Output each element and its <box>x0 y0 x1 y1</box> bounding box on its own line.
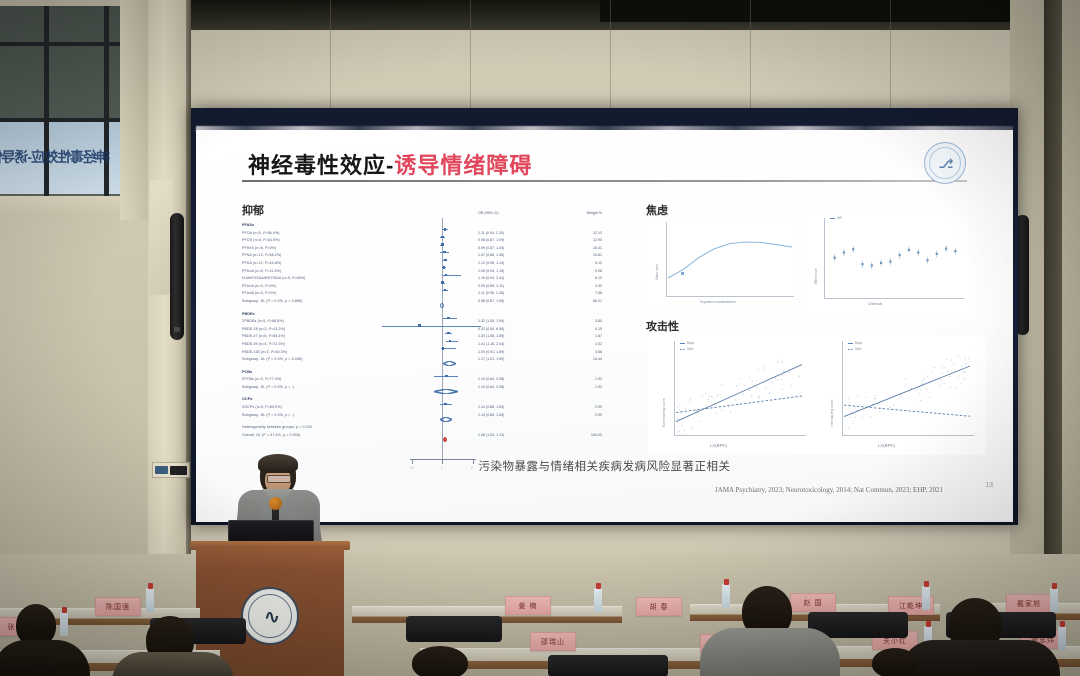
forest-point-estimate <box>447 332 450 335</box>
scatter-point <box>679 431 680 432</box>
forest-or-value: 0.99 (0.87, 1.04) <box>478 245 504 253</box>
window-mullion <box>44 6 49 214</box>
forest-row-label: PFUnA (n=3, I²=0%) <box>242 283 407 291</box>
section-label-aggression: 攻击性 <box>646 318 679 334</box>
scatter-point <box>702 396 703 397</box>
wall-seam <box>750 0 751 110</box>
scatter-point <box>961 383 962 384</box>
scatter-point <box>758 369 759 370</box>
scatter-point <box>758 395 759 396</box>
scatter-point <box>777 379 778 380</box>
forest-summary-diamond <box>440 409 452 414</box>
presenter-hair <box>258 454 298 473</box>
forest-weight-value: 2.99 <box>595 412 602 420</box>
forest-row-stat: 1.11 (0.96, 1.28)7.56 <box>478 290 602 298</box>
scatter-point <box>934 367 935 368</box>
forest-weight-value: 2.99 <box>595 404 602 412</box>
forest-row-stat <box>478 424 602 432</box>
scatter-point <box>751 396 752 397</box>
scatter-point <box>866 396 867 397</box>
scatter-point <box>735 399 736 400</box>
scatter-point <box>941 364 942 365</box>
forest-point-estimate <box>443 266 446 269</box>
scatter-point <box>739 378 740 379</box>
forest-weight-value: 12.90 <box>593 237 602 245</box>
scatter-point <box>905 378 906 379</box>
slide-title-accent: 诱导情绪障碍 <box>394 153 532 178</box>
water-bottle <box>922 586 930 610</box>
scatter-point <box>736 385 737 386</box>
chart-anxiety-line: Odds ratio Exposure concentration <box>648 218 798 310</box>
forest-or-value: 1.12 (0.95, 1.14) <box>478 260 504 268</box>
scatter-point <box>929 397 930 398</box>
scatter-point <box>946 359 947 360</box>
scatter-point <box>950 387 951 388</box>
forest-or-value: 1.07 (0.88, 1.36) <box>478 252 504 260</box>
audience-shoulders <box>700 628 840 676</box>
nameplate: 胡 春 <box>636 597 682 616</box>
forest-row-label: PFDA (n=12, I²=44.8%) <box>242 260 407 268</box>
forest-weight-value: 1.02 <box>595 341 602 349</box>
forest-weight-value: 89.21 <box>593 298 602 306</box>
water-bottle <box>1050 588 1058 612</box>
forest-weight-value: 3.80 <box>595 318 602 326</box>
forest-group-label: PFASs <box>242 222 407 230</box>
forest-col-weight: Weight % <box>587 211 602 215</box>
seal-monogram: ⎇ <box>939 156 952 172</box>
scatter-point <box>965 358 966 359</box>
scatter-point <box>771 382 772 383</box>
scatter-point <box>870 416 871 417</box>
scatter-point <box>778 359 779 360</box>
scatter-point <box>716 395 717 396</box>
microphone-head <box>269 497 282 510</box>
forest-row-label: PFHxS (n=8, I²=0%) <box>242 245 407 253</box>
forest-weight-value: 10.61 <box>593 252 602 260</box>
forest-weight-value: 1.92 <box>595 376 602 384</box>
forest-or-value: 1.16 (0.94, 2.41) <box>478 275 504 283</box>
scatter-point <box>769 393 770 394</box>
scatter-point <box>964 372 965 373</box>
aggression-right-svg <box>816 335 986 455</box>
regression-line-girls <box>676 396 802 413</box>
forest-weight-value: 100.00 <box>591 432 602 440</box>
window-reflection-text: 神经毒性效应-诱导情绪障碍 <box>0 147 110 167</box>
nameplate: 赵 国 <box>790 593 836 612</box>
forest-row-label: PFNA (n=13, I²=58.2%) <box>242 252 407 260</box>
forest-point-estimate <box>444 228 447 231</box>
forest-or-value: 1.14 (0.85, 1.53) <box>478 412 504 420</box>
scatter-point <box>705 393 706 394</box>
scatter-point <box>911 388 912 389</box>
scatter-point <box>963 372 964 373</box>
forest-confidence-interval <box>382 326 482 327</box>
forest-weight-value: 4.30 <box>595 283 602 291</box>
forest-row-stat <box>478 311 602 319</box>
scatter-point <box>721 410 722 411</box>
scatter-point <box>684 429 685 430</box>
forest-weight-value: 14.44 <box>593 356 602 364</box>
nameplate: 戴家旭 <box>1006 594 1052 613</box>
forest-or-value: 0.32 (0.00, 6.50) <box>478 326 504 334</box>
scatter-point <box>680 434 681 435</box>
control-panel-display <box>155 466 168 474</box>
forest-or-value: 1.19 (0.64, 2.08) <box>478 376 504 384</box>
scatter-point <box>700 421 701 422</box>
forest-point-estimate <box>444 259 447 262</box>
audience-shoulders <box>900 640 1060 676</box>
scatter-point <box>964 378 965 379</box>
wall-seam <box>890 0 891 108</box>
scatter-point <box>783 370 784 371</box>
scatter-point <box>679 404 680 405</box>
window-mullion <box>0 42 120 46</box>
scatter-point <box>790 385 791 386</box>
forest-or-value: 1.19 (0.64, 2.08) <box>478 384 504 392</box>
forest-row-label: PBDE-99 (n=4, I²=72.3%) <box>242 341 407 349</box>
forest-row-label: Subgroup, DL (I² = 0.0%, p = .) <box>242 384 407 392</box>
forest-point-estimate <box>449 340 452 343</box>
water-bottle <box>594 588 602 612</box>
scatter-point <box>922 380 923 381</box>
scatter-point <box>849 417 850 418</box>
forest-row-stat: 1.00 (0.91, 1.89)3.86 <box>478 349 602 357</box>
aggression-left-svg <box>648 335 818 455</box>
forest-row-stat: 1.08 (1.02, 1.13)100.00 <box>478 432 602 440</box>
scatter-point <box>705 405 706 406</box>
forest-row-stat <box>478 222 602 230</box>
scatter-point <box>782 361 783 362</box>
scatter-point <box>696 410 697 411</box>
scatter-point <box>690 398 691 399</box>
scatter-point <box>932 371 933 372</box>
scatter-point <box>758 397 759 398</box>
right-column-dark <box>1044 0 1062 600</box>
forest-row-stat <box>478 396 602 404</box>
scatter-point <box>957 378 958 379</box>
scatter-point <box>677 406 678 407</box>
forest-row-label: ΣPCBs (n=3, I²=77.2%) <box>242 376 407 384</box>
scatter-point <box>763 366 764 367</box>
forest-point-estimate <box>447 317 450 320</box>
forest-weight-value: 6.10 <box>595 275 602 283</box>
forest-row-stat: 1.17 (1.01, 1.90)14.44 <box>478 356 602 364</box>
scatter-point <box>893 405 894 406</box>
scatter-point <box>756 387 757 388</box>
forest-row-stat: 1.07 (0.88, 1.36)10.61 <box>478 252 602 260</box>
forest-overall-diamond <box>443 429 447 434</box>
forest-row-label: ΣPBDEs (n=5, I²=88.8%) <box>242 318 407 326</box>
chart-aggression-externalizing: Externalizing score Ln(BPA) Boys Girls <box>648 335 818 455</box>
scatter-point <box>717 394 718 395</box>
forest-row-labels: PFASsPFOA (n=5, I²=66.4%)PFOS (n=8, I²=6… <box>242 222 407 439</box>
scatter-point <box>926 388 927 389</box>
slide-title-primary: 神经毒性效应- <box>248 153 394 178</box>
forest-row-label: Subgroup, DL (I² = 0.0%, p = .) <box>242 412 407 420</box>
wall-seam <box>470 0 471 116</box>
forest-or-value: 1.14 (0.85, 1.53) <box>478 404 504 412</box>
forest-row-label: PFOS (n=8, I²=63.5%) <box>242 237 407 245</box>
scatter-point <box>744 385 745 386</box>
ceiling-band-right <box>600 0 1080 22</box>
forest-null-line <box>442 218 443 462</box>
forest-weight-value: 3.86 <box>595 349 602 357</box>
regression-line-girls <box>844 405 970 416</box>
forest-row-stat: 0.99 (0.89, 1.11)4.30 <box>478 283 602 291</box>
water-bottle <box>146 588 154 612</box>
scatter-point <box>916 390 917 391</box>
forest-summary-diamond <box>440 295 444 300</box>
forest-row-label: PBDE-47 (n=6, I²=65.4%) <box>242 333 407 341</box>
scatter-point <box>764 369 765 370</box>
forest-weight-value: 12.13 <box>593 230 602 238</box>
forest-or-value: 1.00 (0.91, 1.89) <box>478 349 504 357</box>
forest-point-estimate <box>441 236 444 239</box>
forest-or-value: 1.11 (0.94, 1.30) <box>478 230 504 238</box>
water-bottle <box>60 612 68 636</box>
forest-row-label: Subgroup, DL (I² = 0.0%, p = 0.856) <box>242 298 407 306</box>
forest-summary-diamond <box>443 353 456 358</box>
scatter-point <box>721 384 722 385</box>
scatter-point <box>855 407 856 408</box>
scatter-point <box>712 397 713 398</box>
forest-row-label: Heterogeneity between groups: p = 0.030 <box>242 424 407 432</box>
scatter-point <box>679 409 680 410</box>
forest-point-estimate <box>443 251 446 254</box>
forest-weight-value: 9.06 <box>595 268 602 276</box>
scatter-point <box>927 376 928 377</box>
forest-row-stat: 1.12 (0.95, 1.14)9.12 <box>478 260 602 268</box>
scatter-point <box>789 372 790 373</box>
scatter-point <box>959 375 960 376</box>
anxiety-scatter-svg <box>808 214 968 312</box>
scatter-point <box>965 363 966 364</box>
forest-or-value: 1.30 (1.08, 1.56) <box>478 333 504 341</box>
section-label-anxiety: 焦虑 <box>646 202 668 218</box>
window-pier <box>120 0 148 220</box>
scatter-point <box>877 404 878 405</box>
scatter-point <box>849 398 850 399</box>
forest-row-stat: 1.14 (0.85, 1.53)2.99 <box>478 412 602 420</box>
scatter-point <box>777 362 778 363</box>
forest-point-estimate <box>441 243 444 246</box>
forest-row-stat: 1.32 (1.00, 1.94)3.80 <box>478 318 602 326</box>
forest-point-estimate <box>444 403 447 406</box>
scatter-point <box>889 407 890 408</box>
forest-plot-canvas: 0.2 1 5 <box>410 218 476 468</box>
scatter-point <box>749 377 750 378</box>
scatter-point <box>905 385 906 386</box>
presenter-glasses <box>267 475 291 483</box>
scatter-point <box>730 411 731 412</box>
regression-line-boys <box>676 365 802 422</box>
forest-row-stats: 1.11 (0.94, 1.30)12.130.98 (0.87, 1.09)1… <box>478 222 602 439</box>
scatter-point <box>953 363 954 364</box>
scatter-point <box>940 385 941 386</box>
podium-emblem-icon: ∿ <box>241 587 299 645</box>
scatter-point <box>708 396 709 397</box>
forest-row-stat: 1.16 (0.94, 2.41)6.10 <box>478 275 602 283</box>
nameplate: 姜 楠 <box>505 596 551 615</box>
scatter-point <box>950 360 951 361</box>
forest-or-value: 1.05 (0.94, 1.15) <box>478 268 504 276</box>
scatter-point <box>799 376 800 377</box>
scatter-point <box>957 355 958 356</box>
scatter-point <box>923 379 924 380</box>
scatter-point <box>961 366 962 367</box>
scatter-point <box>920 389 921 390</box>
forest-row-stat: 0.32 (0.00, 6.50)0.15 <box>478 326 602 334</box>
audience-shoulders <box>112 652 234 676</box>
window-mullion <box>104 6 109 214</box>
forest-row-stat: 1.05 (0.94, 1.15)9.06 <box>478 268 602 276</box>
wall-panel <box>150 179 172 295</box>
slide-title: 神经毒性效应-诱导情绪障碍 <box>248 148 532 180</box>
scatter-point <box>940 379 941 380</box>
forest-summary-diamond <box>434 381 458 386</box>
scatter-point <box>765 387 766 388</box>
forest-row-stat: 0.98 (0.87, 1.09)12.90 <box>478 237 602 245</box>
forest-group-label: OCPs <box>242 396 407 404</box>
forest-row-label: Subgroup, DL (I² = 0.0%, p = 0.048) <box>242 356 407 364</box>
scatter-point <box>857 396 858 397</box>
forest-or-value: 0.98 (0.87, 1.06) <box>478 298 504 306</box>
scatter-point <box>681 425 682 426</box>
scatter-point <box>769 391 770 392</box>
regression-line-boys <box>844 366 970 417</box>
forest-point-estimate <box>418 324 421 327</box>
forest-or-value: 1.32 (1.00, 1.94) <box>478 318 504 326</box>
scatter-point <box>848 427 849 428</box>
forest-group-label: PCBs <box>242 369 407 377</box>
forest-row-stat: 0.98 (0.87, 1.06)89.21 <box>478 298 602 306</box>
lower-tiled-wall <box>0 214 148 554</box>
forest-row-stat: 0.99 (0.87, 1.04)16.41 <box>478 245 602 253</box>
forest-row-label: PFOA (n=5, I²=66.4%) <box>242 230 407 238</box>
control-panel-keypad[interactable] <box>170 466 187 475</box>
scatter-point <box>919 392 920 393</box>
forest-row-stat: 1.11 (0.94, 1.30)12.13 <box>478 230 602 238</box>
scatter-point <box>900 396 901 397</box>
forest-group-label: PBDEs <box>242 311 407 319</box>
scatter-point <box>967 362 968 363</box>
scatter-point <box>781 379 782 380</box>
scatter-point <box>968 357 969 358</box>
forest-point-estimate <box>445 375 448 378</box>
scatter-point <box>749 390 750 391</box>
podium-emblem-monogram: ∿ <box>264 605 277 630</box>
scatter-point <box>874 398 875 399</box>
forest-point-estimate <box>445 274 448 277</box>
scatter-point <box>685 408 686 409</box>
water-bottle <box>722 584 730 608</box>
wall-seam <box>610 0 611 112</box>
lecture-hall-scene: 神经毒性效应-诱导情绪障碍 神经毒性效应-诱导情绪障碍 ⎇ 抑郁 焦虑 <box>0 0 1080 676</box>
forest-row-label: PFDoA (n=5, I²=11.4%) <box>242 268 407 276</box>
scatter-point <box>861 417 862 418</box>
forest-row-stat: 1.30 (1.08, 1.56)1.67 <box>478 333 602 341</box>
scatter-point <box>922 383 923 384</box>
scatter-point <box>742 394 743 395</box>
scatter-point <box>943 367 944 368</box>
forest-or-value: 1.17 (1.01, 1.90) <box>478 356 504 364</box>
scatter-point <box>920 400 921 401</box>
water-bottle <box>1058 626 1066 650</box>
scatter-point <box>782 375 783 376</box>
forest-row-stat <box>478 369 602 377</box>
scatter-point <box>850 411 851 412</box>
wall-seam <box>330 0 331 120</box>
forest-point-estimate <box>441 281 444 284</box>
scatter-point <box>711 396 712 397</box>
forest-or-value: 0.98 (0.87, 1.09) <box>478 237 504 245</box>
slide-page-number: 13 <box>985 482 993 489</box>
forest-weight-value: 7.56 <box>595 290 602 298</box>
scatter-point <box>876 395 877 396</box>
forest-or-value: 1.08 (1.02, 1.13) <box>478 432 504 440</box>
forest-column-headers: OR (95% CI) Weight % <box>478 211 602 215</box>
section-label-depression: 抑郁 <box>242 202 264 218</box>
scatter-point <box>781 388 782 389</box>
chart-aggression-internalizing: Internalizing score Ln(BPA) Boys Girls <box>816 335 986 455</box>
scatter-point <box>849 407 850 408</box>
scatter-point <box>728 406 729 407</box>
forest-plot-depression: OR (95% CI) Weight % PFASsPFOA (n=5, I²=… <box>242 222 602 472</box>
scatter-point <box>955 387 956 388</box>
audience-head <box>872 648 918 676</box>
forest-weight-value: 16.41 <box>593 245 602 253</box>
forest-or-value: 1.11 (0.96, 1.28) <box>478 290 504 298</box>
audience-head <box>412 646 468 676</box>
forest-row-stat: 1.14 (0.85, 1.53)2.99 <box>478 404 602 412</box>
scatter-point <box>949 376 950 377</box>
forest-point-estimate <box>444 289 447 292</box>
forest-row-label: PBDE-28 (n=3, I²=43.2%) <box>242 326 407 334</box>
scatter-point <box>942 372 943 373</box>
scatter-point <box>852 423 853 424</box>
forest-or-value: 1.41 (1.18, 2.04) <box>478 341 504 349</box>
forest-weight-value: 1.92 <box>595 384 602 392</box>
chair-back <box>406 616 502 642</box>
av-control-panel[interactable] <box>152 462 190 478</box>
scatter-point <box>691 429 692 430</box>
scatter-point <box>677 422 678 423</box>
chart-anxiety-scatter: Effect size Chemical OR <box>808 214 968 312</box>
forest-or-value: 0.99 (0.89, 1.11) <box>478 283 504 291</box>
forest-weight-value: 1.67 <box>595 333 602 341</box>
nameplate: 陈国强 <box>95 597 141 616</box>
forest-row-label: PFUdA (n=3, I²=0%) <box>242 290 407 298</box>
scatter-point <box>708 399 709 400</box>
university-seal-icon: ⎇ <box>924 142 966 184</box>
anxiety-curve-svg <box>648 218 798 310</box>
forest-row-label: N-MeFOSAA/EtFOSAA (n=5, I²=60%) <box>242 275 407 283</box>
scatter-point <box>944 383 945 384</box>
forest-weight-value: 9.12 <box>595 260 602 268</box>
scatter-point <box>947 371 948 372</box>
forest-row-label: ΣOCPs (n=3, I²=90.0%) <box>242 404 407 412</box>
forest-row-stat: 1.41 (1.18, 2.04)1.02 <box>478 341 602 349</box>
forest-row-label: PBDE-153 (n=3, I²=69.3%) <box>242 349 407 357</box>
forest-col-or: OR (95% CI) <box>478 211 499 215</box>
forest-row-stat: 1.19 (0.64, 2.08)1.92 <box>478 384 602 392</box>
forest-point-estimate <box>442 347 445 350</box>
scatter-point <box>690 401 691 402</box>
wall-speaker-left <box>170 213 184 340</box>
forest-weight-value: 0.15 <box>595 326 602 334</box>
nameplate: 邵瑞山 <box>530 632 576 651</box>
scatter-point <box>855 417 856 418</box>
